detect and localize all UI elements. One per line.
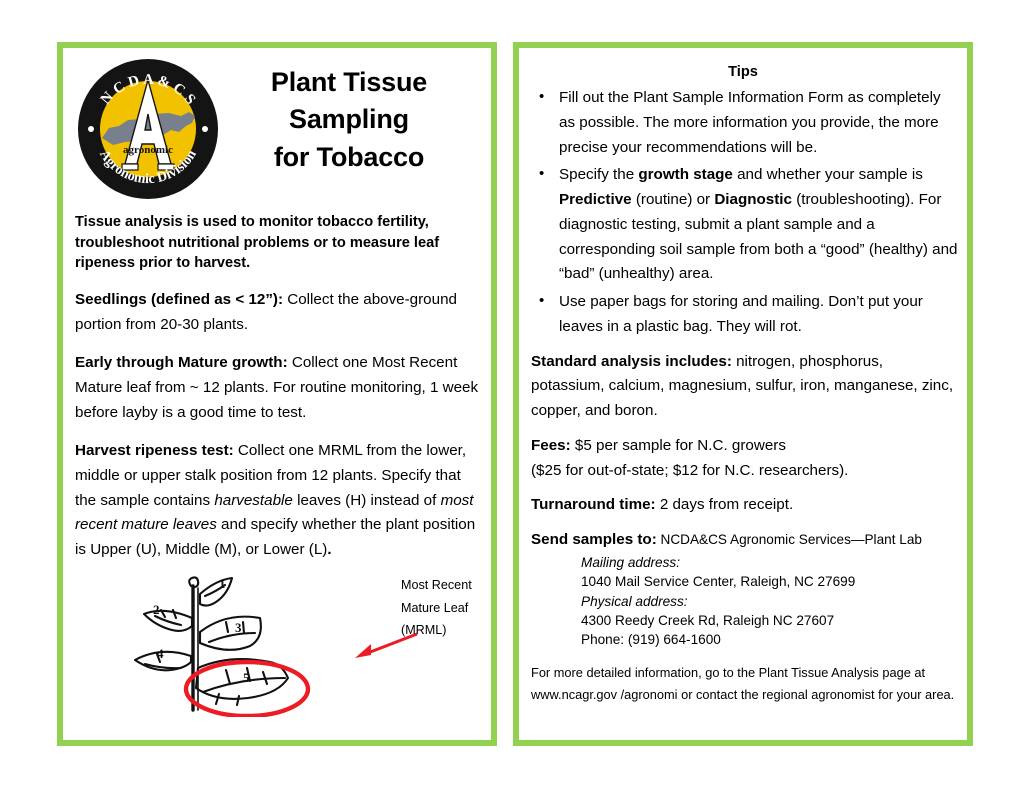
footnote-text: For more detailed information, go to the… <box>527 662 959 706</box>
tip-2-growth-stage: growth stage <box>638 166 733 183</box>
harvest-text-4: . <box>327 541 331 558</box>
early-mature-label: Early through Mature growth: <box>75 354 288 371</box>
fees-label: Fees: <box>531 437 571 454</box>
physical-address-value: 4300 Reedy Creek Rd, Raleigh NC 27607 <box>581 611 959 630</box>
turnaround-text: 2 days from receipt. <box>656 496 794 513</box>
tips-list-item: Specify the growth stage and whether you… <box>527 163 959 287</box>
harvest-ripeness-paragraph: Harvest ripeness test: Collect one MRML … <box>71 439 483 562</box>
harvest-text-2: leaves (H) instead of <box>293 492 441 509</box>
harvest-italic-1: harvestable <box>214 492 293 509</box>
leaf-number-1: 1 <box>219 576 226 591</box>
phone-number: Phone: (919) 664-1600 <box>581 630 959 649</box>
lead-paragraph: Tissue analysis is used to monitor tobac… <box>71 212 483 274</box>
leaf-number-5: 5 <box>243 670 250 685</box>
tip-2-seg-3: and whether your sample is <box>733 166 923 183</box>
early-mature-paragraph: Early through Mature growth: Collect one… <box>71 351 483 425</box>
left-info-panel: agronomic N C D A & C S Agronomic Divisi… <box>57 42 497 746</box>
plant-line-drawing: 1 2 3 4 5 <box>131 572 361 717</box>
seedlings-paragraph: Seedlings (defined as < 12”): Collect th… <box>71 288 483 337</box>
page-title: Plant Tissue Sampling for Tobacco <box>221 56 483 176</box>
tips-list: Fill out the Plant Sample Information Fo… <box>527 86 959 340</box>
left-panel-header: agronomic N C D A & C S Agronomic Divisi… <box>71 56 483 202</box>
leaf-number-3: 3 <box>235 620 242 635</box>
tips-heading: Tips <box>527 64 959 80</box>
send-samples-label: Send samples to: <box>531 531 657 548</box>
seedlings-label: Seedlings (defined as < 12”): <box>75 291 283 308</box>
tip-3-text: Use paper bags for storing and mailing. … <box>559 293 923 335</box>
mrml-callout-line-1: Most Recent <box>401 574 472 596</box>
mailing-address-label: Mailing address: <box>581 553 959 572</box>
send-samples-recipient: NCDA&CS Agronomic Services—Plant Lab <box>657 532 922 547</box>
mrml-callout-line-2: Mature Leaf <box>401 597 472 619</box>
turnaround-paragraph: Turnaround time: 2 days from receipt. <box>527 493 959 518</box>
mrml-callout-label: Most Recent Mature Leaf (MRML) <box>401 574 472 641</box>
turnaround-label: Turnaround time: <box>531 496 656 513</box>
lab-address-block: Mailing address: 1040 Mail Service Cente… <box>527 553 959 649</box>
logo-inner-word: agronomic <box>123 144 173 156</box>
tip-2-predictive: Predictive <box>559 191 632 208</box>
leaf-number-4: 4 <box>157 646 164 661</box>
standard-analysis-label: Standard analysis includes: <box>531 353 732 370</box>
standard-analysis-paragraph: Standard analysis includes: nitrogen, ph… <box>527 350 959 424</box>
mrml-callout-line-3: (MRML) <box>401 619 472 641</box>
page-title-line-3: for Tobacco <box>221 139 477 176</box>
tip-2-seg-1: Specify the <box>559 166 638 183</box>
tip-1-text: Fill out the Plant Sample Information Fo… <box>559 89 941 156</box>
harvest-ripeness-label: Harvest ripeness test: <box>75 442 234 459</box>
leaf-number-2: 2 <box>153 602 160 617</box>
physical-address-label: Physical address: <box>581 592 959 611</box>
mailing-address-value: 1040 Mail Service Center, Raleigh, NC 27… <box>581 572 959 591</box>
tip-2-diagnostic: Diagnostic <box>714 191 792 208</box>
ncda-cs-seal-logo: agronomic N C D A & C S Agronomic Divisi… <box>75 56 221 202</box>
fees-line-1: $5 per sample for N.C. growers <box>571 437 786 454</box>
tobacco-plant-figure: 1 2 3 4 5 Most Recent Mature Leaf (MRML) <box>71 572 483 722</box>
tip-2-seg-5: (routine) or <box>632 191 715 208</box>
tips-list-item: Use paper bags for storing and mailing. … <box>527 290 959 340</box>
fees-paragraph: Fees: $5 per sample for N.C. growers ($2… <box>527 434 959 484</box>
right-tips-panel: Tips Fill out the Plant Sample Informati… <box>513 42 973 746</box>
page-title-line-2: Sampling <box>221 101 477 138</box>
send-samples-paragraph: Send samples to: NCDA&CS Agronomic Servi… <box>527 528 959 553</box>
tips-list-item: Fill out the Plant Sample Information Fo… <box>527 86 959 160</box>
fees-line-2: ($25 for out-of-state; $12 for N.C. rese… <box>531 462 848 479</box>
page-title-line-1: Plant Tissue <box>221 64 477 101</box>
